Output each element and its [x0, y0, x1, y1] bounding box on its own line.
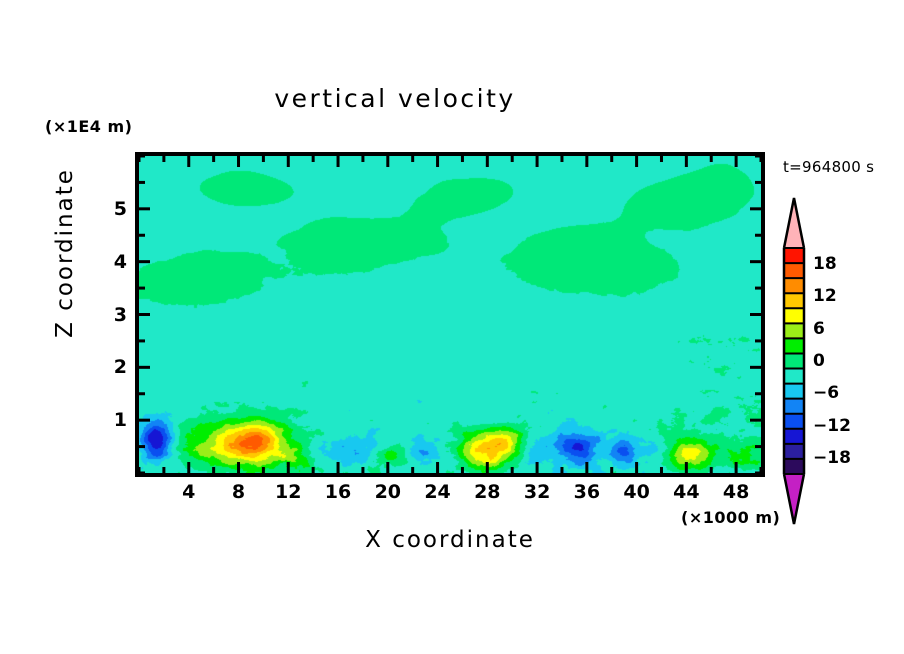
colorbar-tick-label: 12	[813, 286, 837, 306]
x-tick-label: 48	[723, 481, 749, 503]
x-tick-label: 16	[325, 481, 351, 503]
colorbar-tick-label: 6	[813, 319, 825, 339]
x-tick-label: 4	[182, 481, 195, 503]
x-tick-label: 36	[574, 481, 600, 503]
colorbar	[781, 196, 807, 526]
x-tick-label: 44	[673, 481, 699, 503]
vertical-velocity-field	[139, 156, 761, 473]
colorbar-tick-label: −18	[813, 448, 851, 468]
x-tick-label: 20	[375, 481, 401, 503]
x-tick-label: 40	[623, 481, 649, 503]
x-tick-label: 12	[275, 481, 301, 503]
x-tick-label: 8	[232, 481, 245, 503]
colorbar-tick-label: 0	[813, 351, 825, 371]
y-axis-title: Z coordinate	[52, 128, 78, 378]
x-tick-label: 24	[424, 481, 450, 503]
colorbar-tick-label: −6	[813, 383, 839, 403]
y-tick-label: 2	[97, 356, 127, 378]
colorbar-gradient	[781, 196, 807, 526]
x-axis-title: X coordinate	[135, 527, 765, 553]
timestamp-annotation: t=964800 s	[783, 158, 874, 176]
x-tick-label: 28	[474, 481, 500, 503]
contour-plot-area	[135, 152, 765, 477]
colorbar-tick-label: −12	[813, 416, 851, 436]
page-title: vertical velocity	[0, 84, 790, 113]
x-tick-label: 32	[524, 481, 550, 503]
y-tick-label: 4	[97, 251, 127, 273]
colorbar-tick-label: 18	[813, 254, 837, 274]
y-tick-label: 5	[97, 198, 127, 220]
y-tick-label: 3	[97, 304, 127, 326]
x-axis-unit-label: (×1000 m)	[681, 508, 780, 527]
y-tick-label: 1	[97, 409, 127, 431]
